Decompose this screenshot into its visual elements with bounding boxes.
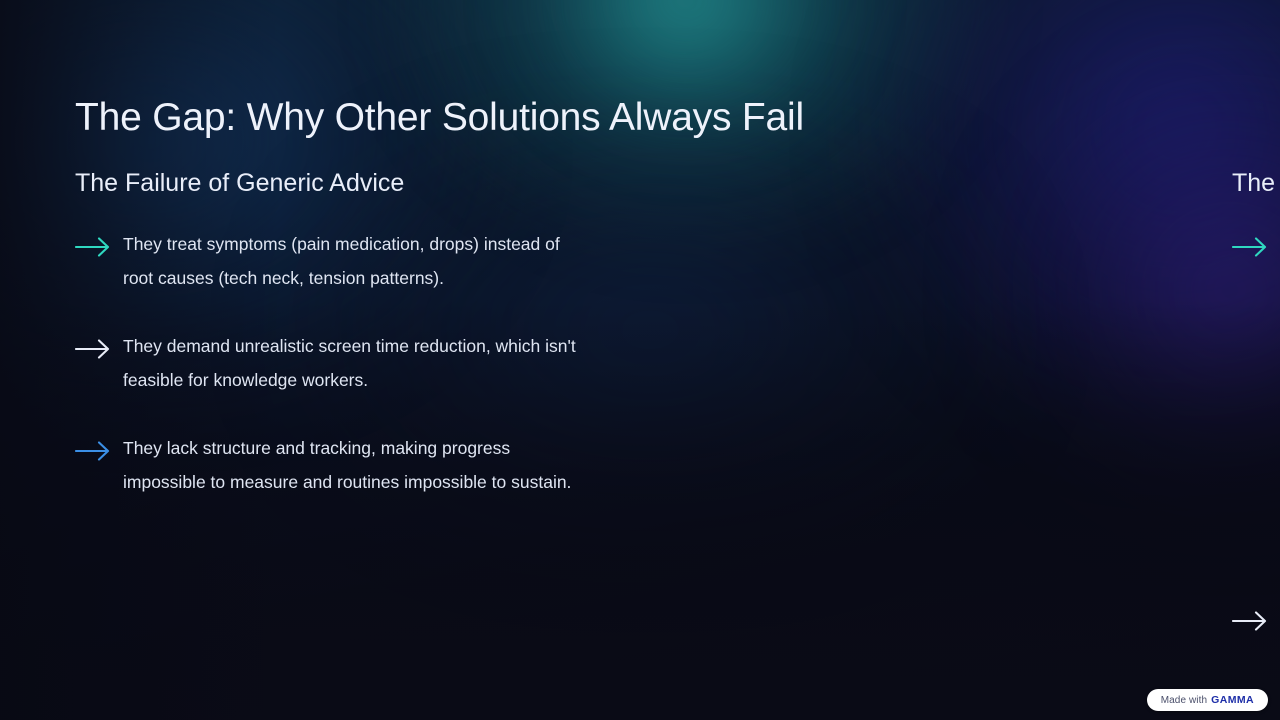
column-right-heading-prefix: The (1232, 169, 1280, 197)
list-item: They demand unrealistic screen time redu… (75, 329, 640, 397)
list-item: They lack structure and tracking, making… (75, 431, 640, 499)
arrow-right-icon (1232, 230, 1280, 264)
list-item-text: They lack structure and tracking, making… (123, 431, 593, 499)
arrow-right-icon (75, 332, 123, 366)
column-left-bullet-list: They treat symptoms (pain medication, dr… (75, 227, 640, 499)
arrow-right-icon (1232, 604, 1280, 638)
column-left-heading: The Failure of Generic Advice (75, 168, 640, 199)
list-item-text: They demand unrealistic screen time redu… (123, 329, 593, 397)
arrow-right-icon (75, 434, 123, 468)
list-item: They treat symptoms (pain medication, dr… (75, 227, 640, 295)
column-left: The Failure of Generic Advice They treat… (75, 168, 640, 720)
list-item-text: They treat symptoms (pain medication, dr… (123, 227, 593, 295)
badge-made-with-label: Made with (1161, 695, 1207, 706)
slide-content: The Gap: Why Other Solutions Always Fail… (0, 0, 1280, 720)
slide: The Gap: Why Other Solutions Always Fail… (0, 0, 1280, 720)
made-with-gamma-badge[interactable]: Made with GAMMA (1147, 689, 1268, 711)
two-column-layout: The Failure of Generic Advice They treat… (75, 168, 1205, 720)
page-title: The Gap: Why Other Solutions Always Fail (75, 96, 804, 140)
column-right: The Triple-Target Method Difference No S… (640, 168, 1205, 720)
arrow-right-icon (75, 230, 123, 264)
badge-brand-label: GAMMA (1211, 694, 1254, 706)
